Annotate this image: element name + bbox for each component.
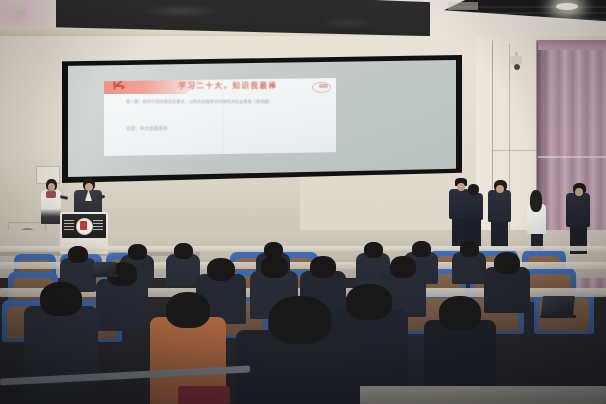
- audience-mid-5-head: [390, 256, 416, 278]
- audience-back-3-head: [174, 243, 193, 259]
- standing-student-3-face: [496, 185, 504, 193]
- front-desk-surface: [360, 386, 606, 404]
- laptop-right-screen: [541, 296, 575, 315]
- standing-student-5-face: [575, 188, 583, 196]
- ceiling-light: [556, 3, 578, 10]
- audience-mid-4-head: [310, 256, 336, 278]
- presenter-right-face: [85, 183, 93, 191]
- audience-back-1-head: [68, 246, 88, 263]
- standing-student-5-body: [566, 193, 590, 227]
- audience-mid-6-shoulders: [484, 267, 530, 313]
- panel-highlight-2: [318, 16, 378, 30]
- audience-mid-6-head: [494, 252, 520, 274]
- standing-student-2-head: [468, 184, 479, 195]
- standing-student-1-face: [457, 183, 465, 191]
- lectern-grill-left: [64, 220, 74, 231]
- standing-student-3-legs: [491, 221, 508, 247]
- audience-back-7-head: [460, 241, 479, 257]
- laptop-left-screen: [93, 262, 116, 274]
- curtain-tie: [538, 156, 606, 158]
- laptop-right-base: [540, 315, 576, 318]
- panel-highlight: [140, 4, 220, 18]
- lecture-hall-photo: 学习二十大，知识我最棒 第一题：新时代党的建设总要求，以伟大自我革命引领伟大社会…: [0, 0, 606, 404]
- lectern-grill-right: [93, 220, 103, 231]
- standing-student-3-body: [488, 190, 511, 222]
- presenter-left-face: [48, 183, 55, 191]
- red-bag: [178, 386, 230, 404]
- audience-back-6-head: [412, 241, 431, 257]
- audience-mid-3-head: [261, 256, 288, 278]
- audience-left-dark-head: [40, 282, 82, 316]
- audience-foreground-hoodie-head: [269, 296, 331, 344]
- audience-mid-1-shoulders: [96, 279, 148, 331]
- audience-right-far-head: [439, 296, 481, 330]
- wall-plate: [15, 10, 26, 18]
- university-seal-mark: [80, 221, 87, 230]
- standing-student-2-body: [464, 193, 483, 220]
- lecture-desk: [0, 246, 606, 251]
- camera-lens-icon: [514, 64, 520, 70]
- presenter-left-scarf: [46, 191, 56, 198]
- ceiling-vent: [448, 2, 478, 10]
- audience-back-5-head: [364, 242, 383, 258]
- standing-student-4-hair: [530, 190, 542, 212]
- screen-glare: [68, 60, 456, 177]
- audience-mid-2-head: [207, 258, 235, 281]
- audience-orange-top-head: [166, 292, 210, 328]
- door-seam-left: [509, 44, 510, 254]
- audience-back-2-head: [128, 244, 147, 260]
- curtain-rod: [538, 40, 606, 50]
- audience-right-dark-head: [346, 284, 392, 320]
- laptop-left-base: [92, 274, 118, 277]
